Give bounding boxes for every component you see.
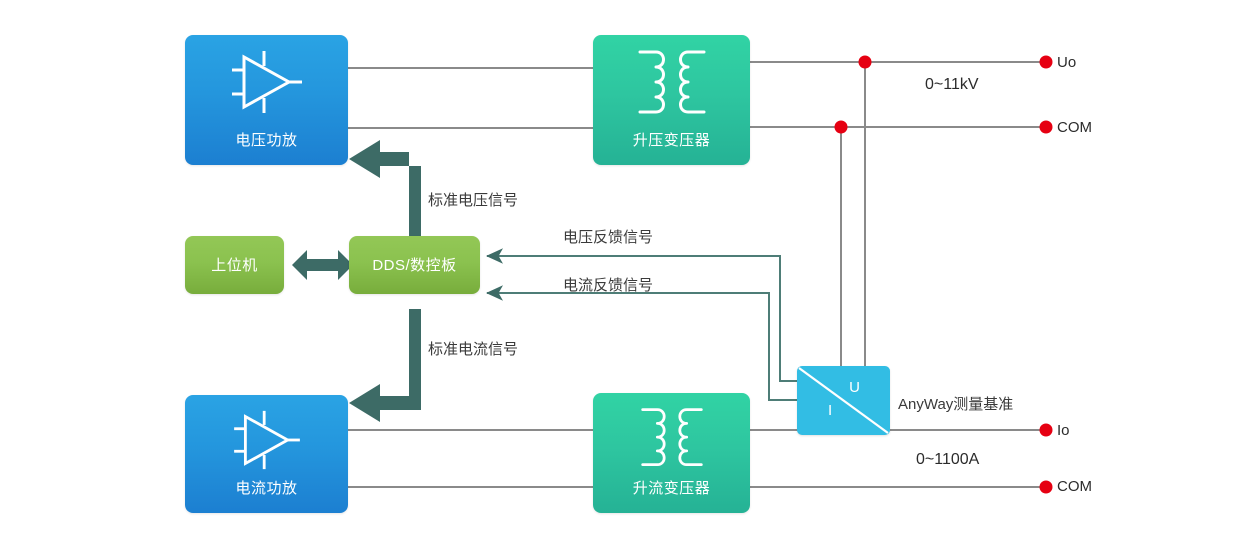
label-terminal-io: Io	[1057, 423, 1070, 438]
label-terminal-current-com: COM	[1057, 479, 1092, 494]
block-label: 电压功放	[185, 133, 348, 148]
meas-label-i: I	[828, 403, 832, 418]
label-terminal-voltage-com: COM	[1057, 120, 1092, 135]
terminal-dot-icom	[1040, 481, 1053, 494]
label-current-range: 0~1100A	[916, 452, 979, 468]
block-dds-board[interactable]: DDS/数控板	[349, 236, 480, 294]
meas-label-u: U	[849, 380, 860, 395]
block-host-computer[interactable]: 上位机	[185, 236, 284, 294]
label-current-feedback-signal: 电流反馈信号	[563, 278, 653, 293]
block-step-up-voltage-transformer[interactable]: 升压变压器	[593, 35, 750, 165]
arrow-standard-current	[349, 309, 421, 422]
terminal-dot-io	[1040, 424, 1053, 437]
label-standard-voltage-signal: 标准电压信号	[428, 193, 518, 208]
arrow-standard-voltage	[349, 140, 421, 236]
block-current-amplifier[interactable]: 电流功放	[185, 395, 348, 513]
diagram-canvas: 电压功放 升压变压器 上位机 DDS/数控板 电	[0, 0, 1240, 546]
label-voltage-range: 0~11kV	[925, 77, 979, 93]
terminal-dots	[1040, 56, 1053, 494]
op-amp-icon	[223, 409, 311, 471]
line-voltage-feedback	[487, 256, 814, 381]
terminal-dot-uo	[1040, 56, 1053, 69]
block-label: 上位机	[211, 258, 258, 273]
junction-dot-uo	[859, 56, 872, 69]
transformer-coil-icon	[626, 406, 718, 472]
block-label: 电流功放	[185, 481, 348, 496]
label-voltage-feedback-signal: 电压反馈信号	[563, 230, 653, 245]
terminal-dot-vcom	[1040, 121, 1053, 134]
arrow-host-dds-bidirectional	[292, 250, 353, 280]
label-terminal-uo: Uo	[1057, 55, 1076, 70]
block-label: 升压变压器	[593, 133, 750, 148]
block-step-up-current-transformer[interactable]: 升流变压器	[593, 393, 750, 513]
transformer-coil-icon	[626, 48, 718, 120]
block-label: DDS/数控板	[372, 258, 456, 273]
junction-dot-vcom	[835, 121, 848, 134]
block-label: 升流变压器	[593, 481, 750, 496]
block-measurement-reference[interactable]: U I	[797, 366, 890, 435]
line-current-feedback	[487, 293, 797, 400]
label-standard-current-signal: 标准电流信号	[428, 342, 518, 357]
meas-diagonal-icon	[797, 366, 890, 435]
op-amp-icon	[223, 49, 311, 115]
block-voltage-amplifier[interactable]: 电压功放	[185, 35, 348, 165]
label-measurement-caption: AnyWay测量基准	[898, 397, 1013, 412]
